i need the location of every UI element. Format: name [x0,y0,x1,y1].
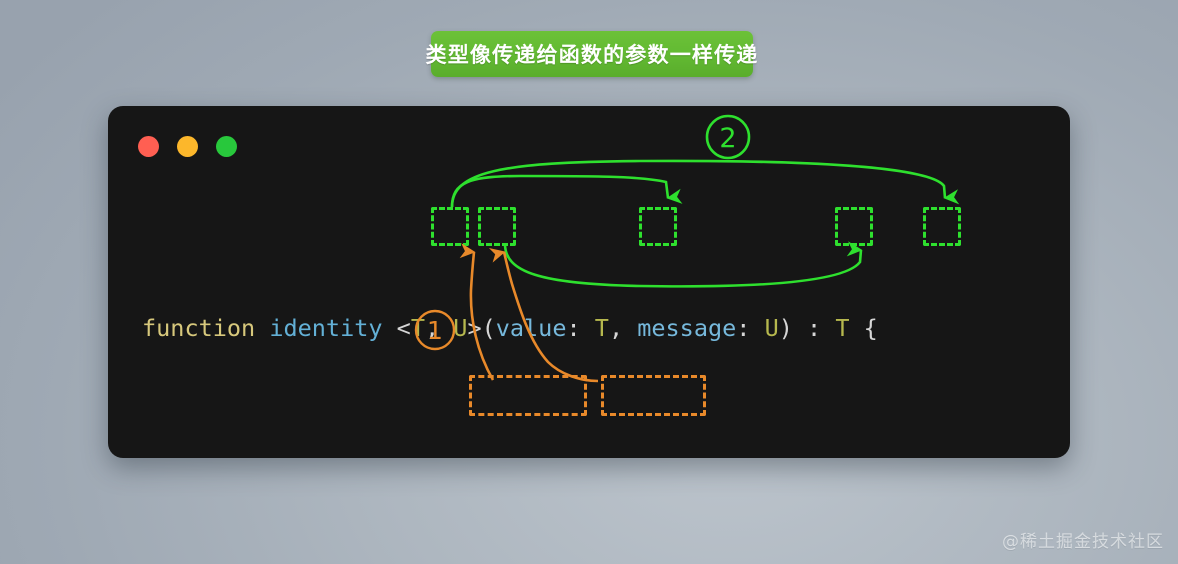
token-colon-2: : [736,314,764,342]
token-var-message: message [340,454,439,458]
code-line-1: function identity <T, U>(value: T, messa… [142,311,906,346]
code-block: function identity <T, U>(value: T, messa… [142,206,906,458]
code-window: function identity <T, U>(value: T, messa… [108,106,1070,458]
title-banner-label: 类型像传递给函数的参数一样传递 [426,39,759,69]
token-open-brace: { [849,314,877,342]
highlight-return-T [923,207,961,246]
token-comma-2: , [609,314,637,342]
token-type-param-T: T [411,314,425,342]
token-annot-T: T [595,314,609,342]
token-dot-1: . [269,454,283,458]
token-return-colon: ) : [779,314,836,342]
token-identifier-identity: identity [269,314,382,342]
token-open-generic: < [383,314,411,342]
code-line-2: console.log(message); [142,451,906,458]
title-banner: 类型像传递给函数的参数一样传递 [431,31,753,77]
token-prop-log-1: log [284,454,326,458]
token-space-1 [255,314,269,342]
token-param-value: value [496,314,567,342]
maximize-button-icon[interactable] [216,136,237,157]
token-type-param-U: U [453,314,467,342]
screenshot-canvas: 类型像传递给函数的参数一样传递 function identity <T, U>… [0,0,1178,564]
minimize-button-icon[interactable] [177,136,198,157]
token-colon-1: : [566,314,594,342]
token-object-console-1: console [170,454,269,458]
token-close-generic: >( [467,314,495,342]
token-annot-U: U [765,314,779,342]
close-button-icon[interactable] [138,136,159,157]
token-close-paren-1: ); [439,454,467,458]
token-param-message: message [637,314,736,342]
window-traffic-lights [138,136,237,157]
token-open-paren-1: ( [326,454,340,458]
token-keyword-function: function [142,314,255,342]
watermark: @稀土掘金技术社区 [1002,527,1164,552]
token-return-T: T [835,314,849,342]
token-comma-1: , [425,314,453,342]
token-indent-2 [142,454,170,458]
